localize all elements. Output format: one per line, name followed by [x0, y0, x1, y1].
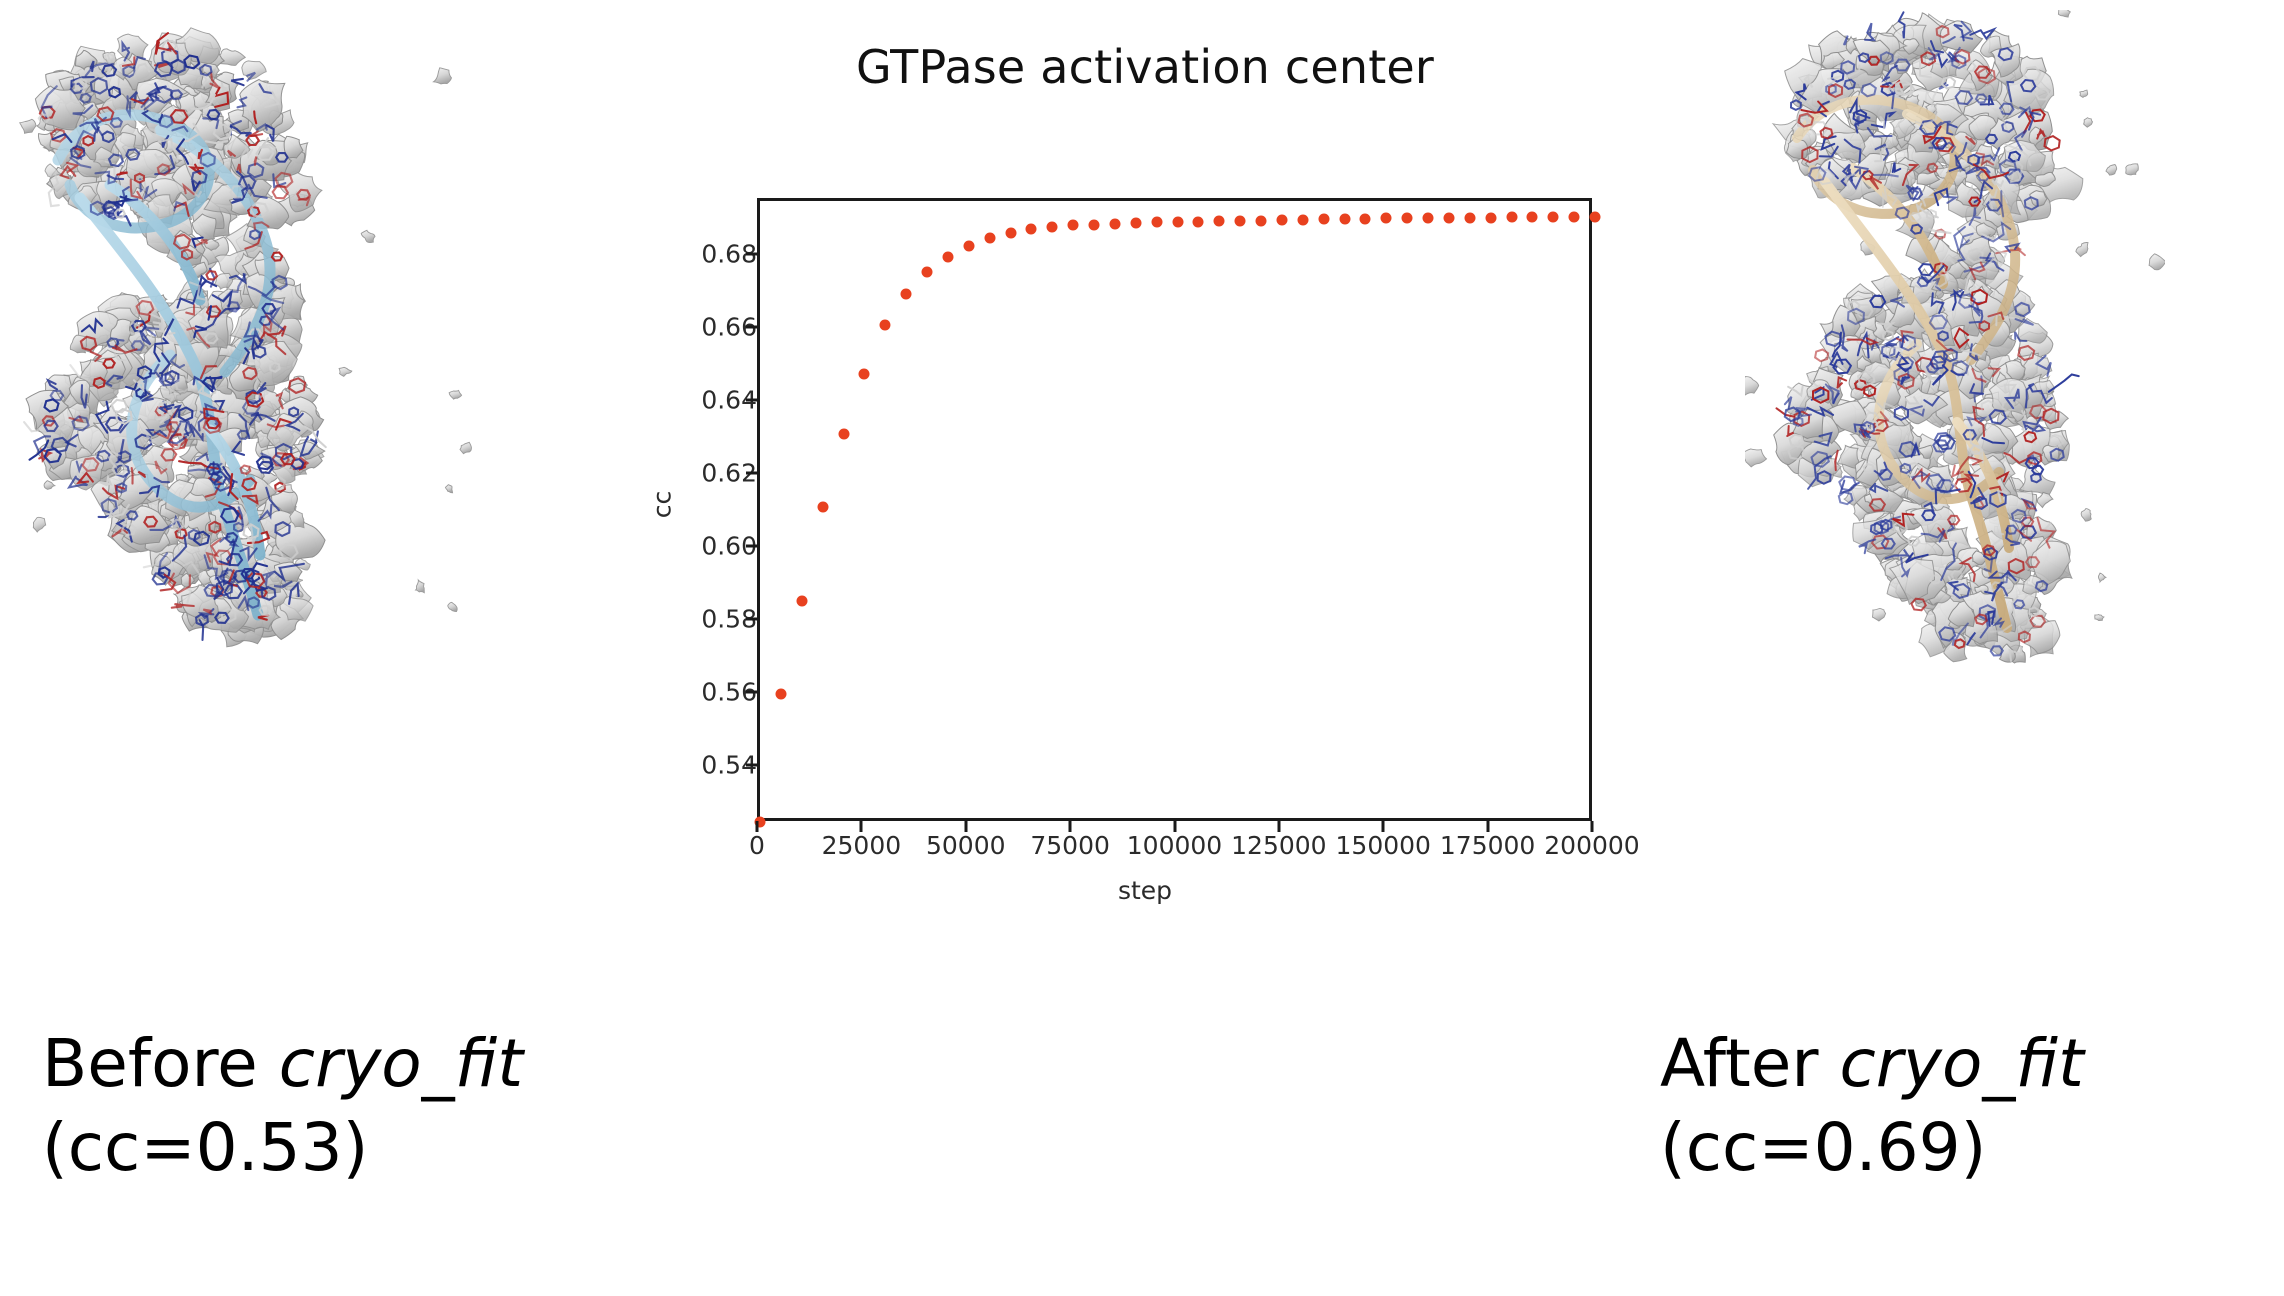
x-axis-label: step: [640, 876, 1650, 905]
caption-before-emphasis: cryo_fit: [279, 1025, 523, 1102]
slide-canvas: GTPase activation center cc 0.540.560.58…: [0, 0, 2284, 1296]
scatter-point: [1089, 219, 1100, 230]
scatter-point: [1464, 212, 1475, 223]
scatter-point: [1360, 213, 1371, 224]
scatter-point: [1214, 216, 1225, 227]
y-tick-label: 0.66: [671, 313, 757, 342]
scatter-points: [760, 201, 1589, 818]
scatter-point: [1235, 216, 1246, 227]
scatter-point: [1047, 221, 1058, 232]
scatter-point: [838, 429, 849, 440]
scatter-point: [1068, 220, 1079, 231]
scatter-point: [1423, 213, 1434, 224]
x-tick-label: 25000: [822, 831, 902, 860]
scatter-point: [1402, 213, 1413, 224]
scatter-point: [901, 288, 912, 299]
x-tick-label: 125000: [1231, 831, 1326, 860]
caption-after-prefix: After: [1660, 1025, 1839, 1102]
scatter-point: [1026, 224, 1037, 235]
y-tick-label: 0.56: [671, 677, 757, 706]
scatter-point: [1256, 215, 1267, 226]
x-tick-label: 175000: [1440, 831, 1535, 860]
scatter-point: [1276, 214, 1287, 225]
plot-area: [757, 198, 1592, 821]
scatter-point: [1005, 227, 1016, 238]
scatter-point: [1318, 214, 1329, 225]
scatter-point: [775, 688, 786, 699]
scatter-point: [1381, 213, 1392, 224]
y-tick-label: 0.60: [671, 531, 757, 560]
y-tick-mark: [746, 472, 757, 475]
y-tick-label: 0.62: [671, 459, 757, 488]
scatter-point: [859, 368, 870, 379]
scatter-point: [984, 233, 995, 244]
after-cryo-fit-structure: [1745, 10, 2165, 670]
caption-after: After cryo_fit (cc=0.69): [1660, 1022, 2084, 1191]
caption-before: Before cryo_fit (cc=0.53): [42, 1022, 523, 1191]
scatter-point: [1548, 212, 1559, 223]
cc-vs-step-chart: GTPase activation center cc 0.540.560.58…: [640, 30, 1650, 930]
scatter-point: [796, 595, 807, 606]
x-tick-label: 200000: [1544, 831, 1639, 860]
x-tick-labels: 0250005000075000100000125000150000175000…: [757, 821, 1592, 881]
scatter-point: [1109, 218, 1120, 229]
caption-before-cc: (cc=0.53): [42, 1106, 523, 1190]
scatter-point: [963, 240, 974, 251]
scatter-point: [1297, 214, 1308, 225]
scatter-point: [1151, 217, 1162, 228]
chart-title: GTPase activation center: [640, 40, 1650, 94]
scatter-point: [1339, 213, 1350, 224]
scatter-point: [1527, 212, 1538, 223]
scatter-point: [1506, 212, 1517, 223]
y-tick-mark: [746, 399, 757, 402]
caption-before-prefix: Before: [42, 1025, 279, 1102]
scatter-point: [1130, 218, 1141, 229]
caption-after-emphasis: cryo_fit: [1839, 1025, 2083, 1102]
y-tick-label: 0.58: [671, 604, 757, 633]
x-tick-label: 0: [749, 831, 765, 860]
y-tick-mark: [746, 617, 757, 620]
y-tick-mark: [746, 326, 757, 329]
before-cryo-fit-structure: [10, 10, 510, 650]
scatter-point: [1172, 217, 1183, 228]
y-tick-label: 0.54: [671, 750, 757, 779]
scatter-point: [817, 502, 828, 513]
y-tick-label: 0.64: [671, 386, 757, 415]
y-tick-mark: [746, 253, 757, 256]
y-tick-mark: [746, 544, 757, 547]
scatter-point: [942, 252, 953, 263]
scatter-point: [922, 267, 933, 278]
x-tick-label: 100000: [1127, 831, 1222, 860]
x-tick-label: 150000: [1336, 831, 1431, 860]
scatter-point: [1569, 212, 1580, 223]
scatter-point: [880, 320, 891, 331]
y-tick-label: 0.68: [671, 240, 757, 269]
x-tick-label: 50000: [926, 831, 1006, 860]
y-tick-mark: [746, 763, 757, 766]
x-tick-label: 75000: [1030, 831, 1110, 860]
scatter-point: [1443, 213, 1454, 224]
scatter-point: [1590, 211, 1601, 222]
caption-after-cc: (cc=0.69): [1660, 1106, 2084, 1190]
scatter-point: [1193, 216, 1204, 227]
y-tick-mark: [746, 690, 757, 693]
scatter-point: [1485, 212, 1496, 223]
y-tick-labels: 0.540.560.580.600.620.640.660.68: [657, 198, 757, 821]
